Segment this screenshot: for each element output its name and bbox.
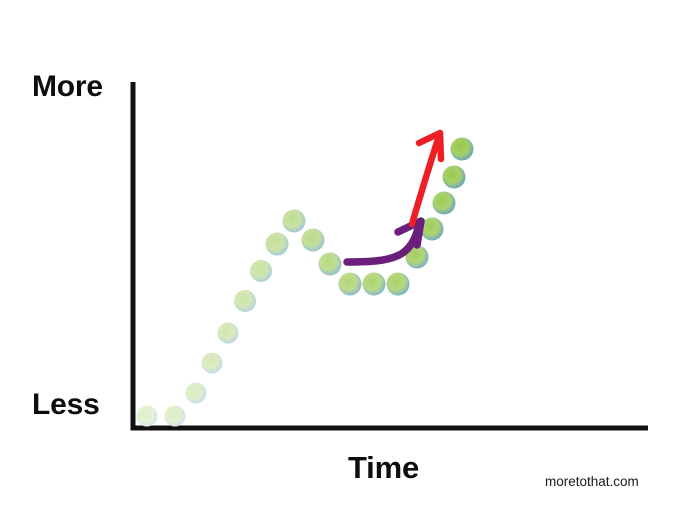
data-point bbox=[387, 273, 410, 296]
data-point bbox=[186, 383, 207, 404]
red-arrow-shaft bbox=[412, 139, 438, 224]
data-point bbox=[339, 273, 362, 296]
data-point bbox=[283, 210, 306, 233]
data-point bbox=[266, 233, 289, 256]
data-point bbox=[250, 260, 272, 282]
data-point bbox=[433, 192, 456, 215]
data-point bbox=[451, 138, 474, 161]
data-point bbox=[319, 253, 342, 276]
plot-area bbox=[0, 0, 700, 513]
data-point bbox=[443, 166, 466, 189]
data-point bbox=[234, 290, 256, 312]
annotations bbox=[347, 133, 441, 262]
data-point bbox=[302, 229, 325, 252]
data-point bbox=[363, 273, 386, 296]
data-point bbox=[137, 406, 158, 427]
data-point bbox=[202, 353, 223, 374]
chart-figure: More Less Time moretothat.com bbox=[0, 0, 700, 513]
data-point bbox=[218, 323, 239, 344]
data-point bbox=[165, 406, 186, 427]
